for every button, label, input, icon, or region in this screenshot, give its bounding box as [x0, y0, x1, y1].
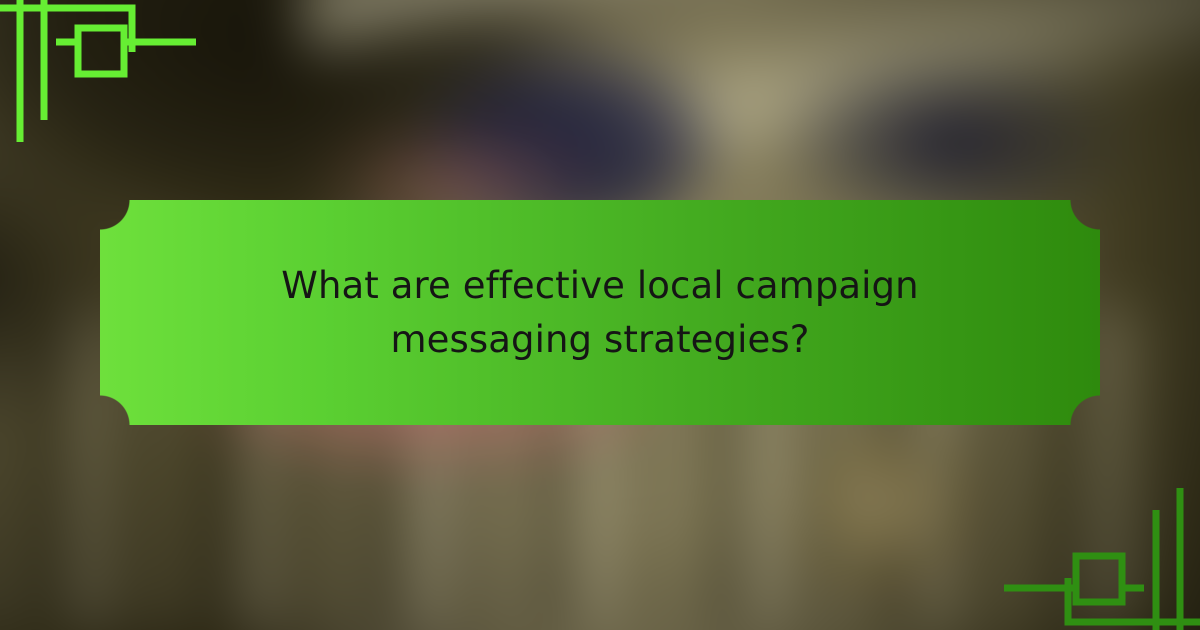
headline-text: What are effective local campaign messag…	[205, 259, 995, 366]
corner-bracket-top-left-icon	[0, 0, 200, 200]
headline-banner: What are effective local campaign messag…	[100, 200, 1100, 425]
share-card-canvas: What are effective local campaign messag…	[0, 0, 1200, 630]
corner-bracket-bottom-right-icon	[1000, 430, 1200, 630]
